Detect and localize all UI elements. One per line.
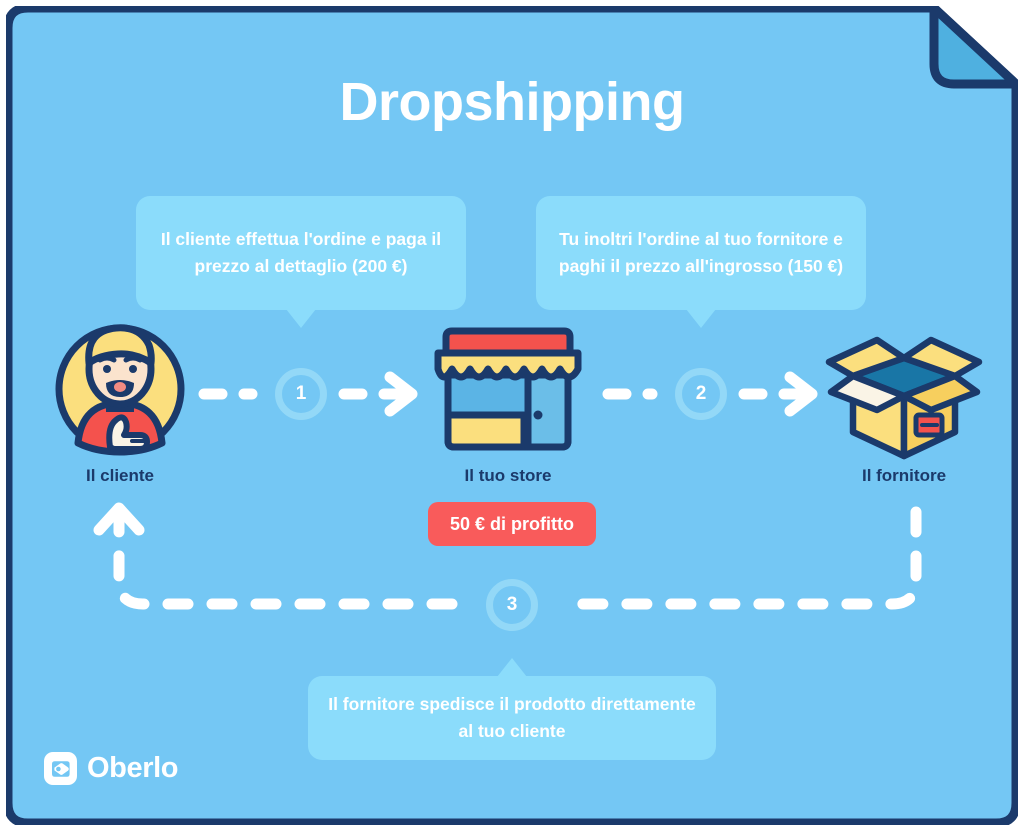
callout-text: Il cliente effettua l'ordine e paga il p… (154, 226, 448, 280)
infographic-canvas: Dropshipping Il cliente effettua l'ordin… (0, 0, 1024, 831)
storefront-icon (408, 318, 608, 460)
price-tag-icon (44, 752, 77, 785)
callout-shipping: Il fornitore spedisce il prodotto dirett… (308, 676, 716, 760)
open-box-icon (804, 318, 1004, 460)
callout-customer-order: Il cliente effettua l'ordine e paga il p… (136, 196, 466, 310)
stage-label: Il fornitore (804, 466, 1004, 486)
callout-tail (286, 309, 316, 328)
step-number-3: 3 (486, 579, 538, 631)
logo-wordmark: Oberlo (87, 752, 178, 785)
corner-fold (934, 8, 1016, 84)
stage-supplier: Il fornitore (804, 318, 1004, 486)
status-badge-profit: 50 € di profitto (428, 502, 596, 546)
step-number-2: 2 (675, 368, 727, 420)
stage-customer: Il cliente (20, 318, 220, 486)
step-number-1: 1 (275, 368, 327, 420)
stage-label: Il cliente (20, 466, 220, 486)
page-title: Dropshipping (0, 75, 1024, 129)
customer-avatar-icon (20, 318, 220, 460)
callout-supplier-order: Tu inoltri l'ordine al tuo fornitore e p… (536, 196, 866, 310)
callout-text: Il fornitore spedisce il prodotto dirett… (326, 691, 698, 745)
oberlo-logo: Oberlo (44, 752, 178, 785)
callout-text: Tu inoltri l'ordine al tuo fornitore e p… (554, 226, 848, 280)
stage-label: Il tuo store (408, 466, 608, 486)
callout-tail (686, 309, 716, 328)
stage-store: Il tuo store (408, 318, 608, 486)
callout-tail (497, 658, 527, 677)
